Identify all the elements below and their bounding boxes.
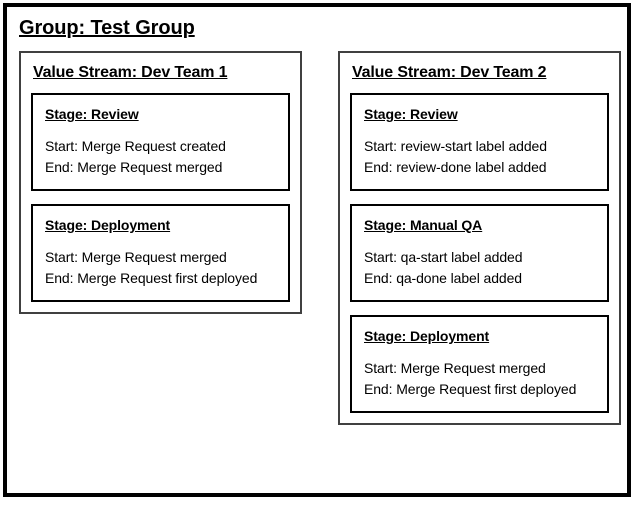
stage-end-text: End: qa-done label added xyxy=(364,268,595,289)
stage-title: Stage: Review xyxy=(45,105,276,124)
value-stream-title: Value Stream: Dev Team 1 xyxy=(33,62,290,84)
stage-title: Stage: Deployment xyxy=(45,216,276,235)
stage-card: Stage: Deployment Start: Merge Request m… xyxy=(31,204,290,302)
stage-start-text: Start: Merge Request merged xyxy=(364,358,595,379)
stage-title: Stage: Manual QA xyxy=(364,216,595,235)
stage-start-text: Start: qa-start label added xyxy=(364,247,595,268)
stage-end-text: End: Merge Request merged xyxy=(45,157,276,178)
value-stream-dev-team-1: Value Stream: Dev Team 1 Stage: Review S… xyxy=(19,51,302,314)
value-stream-dev-team-2: Value Stream: Dev Team 2 Stage: Review S… xyxy=(338,51,621,425)
stage-card: Stage: Deployment Start: Merge Request m… xyxy=(350,315,609,413)
stage-end-text: End: review-done label added xyxy=(364,157,595,178)
group-frame: Group: Test Group Value Stream: Dev Team… xyxy=(3,3,631,497)
group-frame-inner: Group: Test Group Value Stream: Dev Team… xyxy=(7,7,627,493)
stage-start-text: Start: Merge Request merged xyxy=(45,247,276,268)
value-stream-columns: Value Stream: Dev Team 1 Stage: Review S… xyxy=(7,51,627,493)
value-stream-title: Value Stream: Dev Team 2 xyxy=(352,62,609,84)
stage-card: Stage: Review Start: Merge Request creat… xyxy=(31,93,290,191)
stage-title: Stage: Deployment xyxy=(364,327,595,346)
stage-card: Stage: Review Start: review-start label … xyxy=(350,93,609,191)
stage-start-text: Start: review-start label added xyxy=(364,136,595,157)
stage-end-text: End: Merge Request first deployed xyxy=(364,379,595,400)
diagram-page: Group: Test Group Value Stream: Dev Team… xyxy=(0,0,634,505)
group-title: Group: Test Group xyxy=(19,15,617,41)
stage-start-text: Start: Merge Request created xyxy=(45,136,276,157)
stage-end-text: End: Merge Request first deployed xyxy=(45,268,276,289)
stage-title: Stage: Review xyxy=(364,105,595,124)
stage-card: Stage: Manual QA Start: qa-start label a… xyxy=(350,204,609,302)
